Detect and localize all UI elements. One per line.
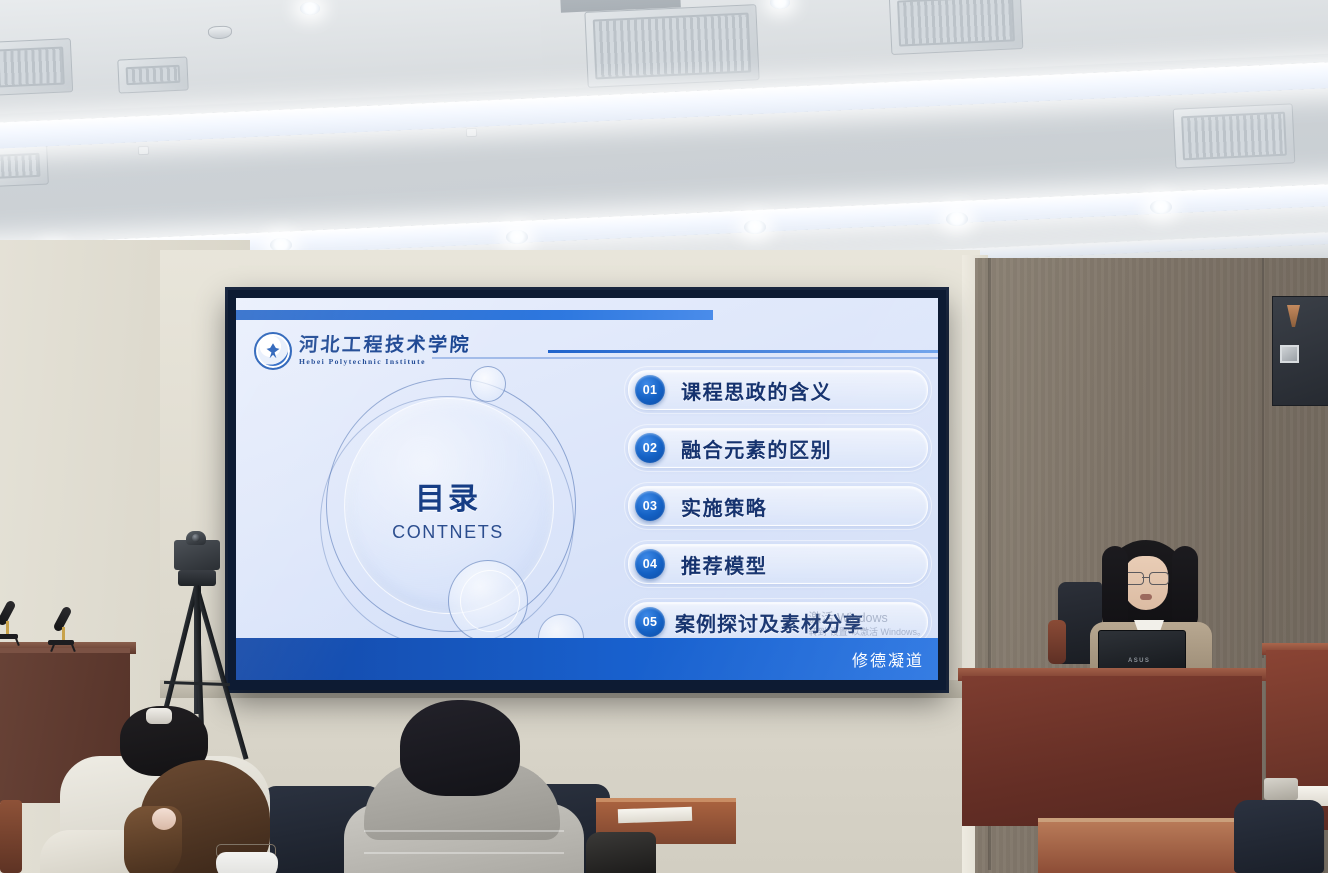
slide-divider-line: [548, 350, 938, 353]
audience-member-3: [330, 700, 600, 873]
agenda-number-badge: 03: [635, 491, 665, 521]
camera-lens-icon: [186, 531, 206, 545]
slide-footer-motto: 修德凝道: [852, 647, 924, 671]
laptop-brand-label: ASUS: [1128, 658, 1150, 664]
downlight: [744, 220, 766, 234]
decorative-circles: 目录 CONTNETS: [320, 370, 600, 660]
downlight: [1150, 200, 1172, 214]
speaker-grille-icon: [1280, 345, 1299, 363]
small-camera-device: [1264, 778, 1298, 800]
wall-mounted-speaker: [1272, 296, 1328, 406]
speaker-horn-icon: [1287, 305, 1300, 327]
center-title-english: CONTNETS: [320, 522, 576, 543]
presenter-chair-arm: [1048, 620, 1066, 664]
wall-seam: [1262, 258, 1264, 658]
agenda-item-label: 融合元素的区别: [681, 434, 832, 463]
agenda-item-05[interactable]: 05 案例探讨及素材分享: [628, 602, 928, 642]
slide-center-title: 目录 CONTNETS: [320, 474, 576, 543]
sprinkler-icon: [466, 128, 477, 137]
ac-vent-mid-left: [0, 144, 49, 187]
agenda-number-badge: 05: [635, 607, 665, 637]
agenda-item-04[interactable]: 04 推荐模型: [628, 544, 928, 584]
accent-circle-mid-inner-icon: [460, 570, 520, 632]
audience-chair-right: [1234, 800, 1324, 873]
agenda-number-badge: 02: [635, 433, 665, 463]
hair-clip-icon: [146, 708, 172, 724]
institution-logo: 河北工程技术学院 Hebei Polytechnic Institute: [254, 332, 471, 370]
agenda-item-label: 案例探讨及素材分享: [675, 608, 864, 637]
conference-room-photo: 河北工程技术学院 Hebei Polytechnic Institute 目录 …: [0, 0, 1328, 873]
ac-vent-center: [584, 4, 759, 88]
agenda-item-label: 实施策略: [681, 492, 767, 521]
slide-top-accent-bar: [236, 310, 713, 320]
ac-vent-panel: [117, 56, 188, 93]
agenda-item-label: 课程思政的含义: [681, 376, 832, 405]
audience-member-2: [40, 760, 340, 873]
agenda-item-label: 推荐模型: [681, 550, 767, 579]
laptop-lid: [1098, 630, 1186, 672]
ptz-camera-icon: [174, 540, 220, 570]
tripod-head: [178, 570, 216, 586]
downlight: [506, 230, 528, 244]
agenda-item-02[interactable]: 02 融合元素的区别: [628, 428, 928, 468]
slide-content: 河北工程技术学院 Hebei Polytechnic Institute 目录 …: [236, 298, 938, 680]
downlight: [300, 2, 320, 15]
agenda-list: 01 课程思政的含义 02 融合元素的区别 03 实施策略 04 推荐模型 05: [628, 370, 928, 660]
center-title-chinese: 目录: [320, 474, 576, 518]
agenda-item-03[interactable]: 03 实施策略: [628, 486, 928, 526]
accent-circle-top-icon: [470, 366, 506, 402]
logo-english-name: Hebei Polytechnic Institute: [299, 358, 471, 366]
ac-vent-right: [889, 0, 1024, 55]
presentation-display[interactable]: 河北工程技术学院 Hebei Polytechnic Institute 目录 …: [228, 290, 946, 690]
slide-divider-line-thin: [432, 357, 938, 359]
face-mask-icon: [216, 852, 278, 873]
ac-vent-far-right: [1173, 103, 1296, 168]
downlight: [946, 212, 968, 226]
logo-chinese-name: 河北工程技术学院: [298, 336, 471, 355]
presenter-hair-front: [1102, 546, 1198, 630]
paper-on-desk: [618, 807, 692, 824]
ac-vent-left: [0, 38, 73, 96]
slide-footer-bar: 修德凝道: [236, 638, 938, 680]
university-seal-icon: [254, 332, 292, 370]
presenter-desk: [962, 676, 1262, 826]
agenda-number-badge: 04: [635, 549, 665, 579]
agenda-item-01[interactable]: 01 课程思政的含义: [628, 370, 928, 410]
hair-tie-icon: [152, 808, 176, 830]
agenda-number-badge: 01: [635, 375, 665, 405]
audience-head: [400, 700, 520, 796]
sprinkler-icon: [138, 146, 149, 155]
